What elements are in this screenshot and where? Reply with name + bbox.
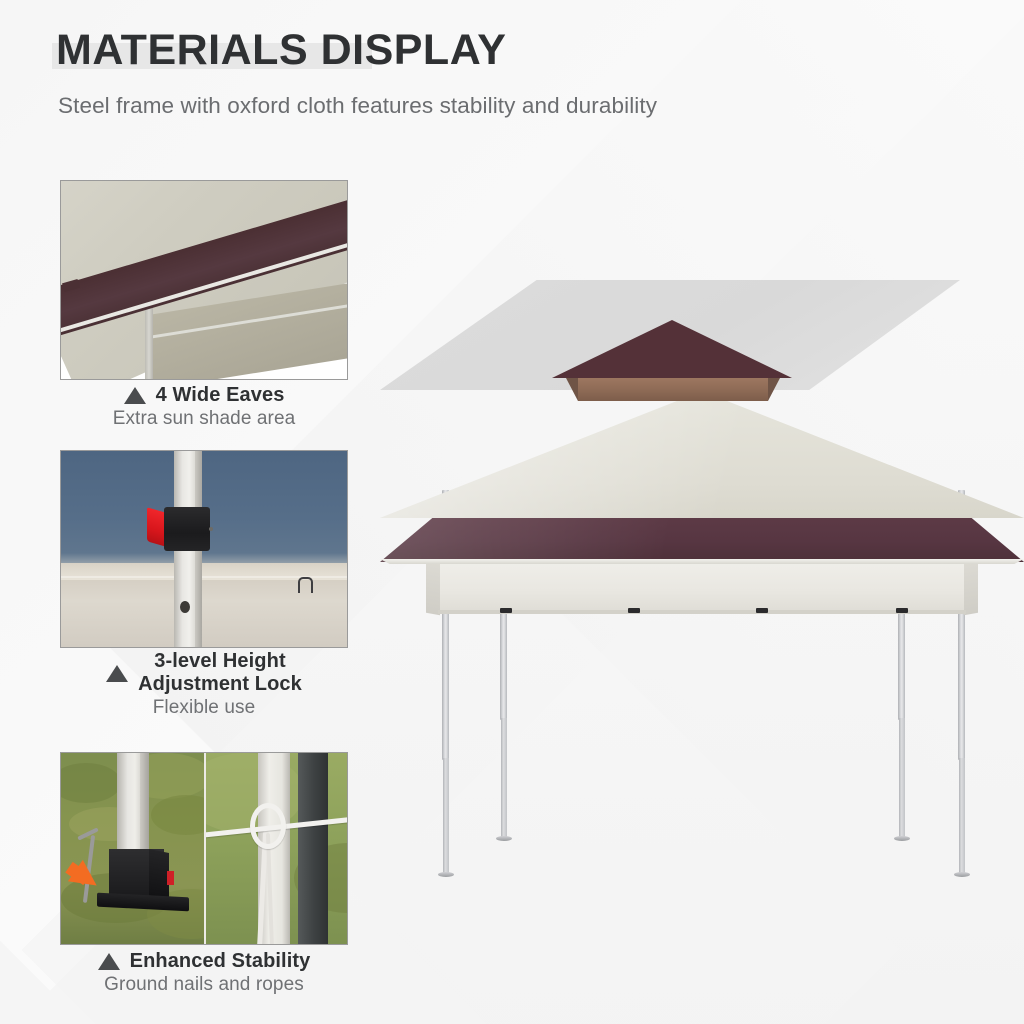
page-subtitle: Steel frame with oxford cloth features s… bbox=[58, 93, 876, 119]
feature-caption-eaves: 4 Wide Eaves Extra sun shade area bbox=[60, 384, 348, 430]
feature-heading-eaves: 4 Wide Eaves bbox=[156, 384, 285, 407]
ground-nail-photo-half bbox=[61, 753, 204, 944]
feature-subtext-stability: Ground nails and ropes bbox=[60, 974, 348, 996]
rope-tie-photo-half bbox=[204, 753, 347, 944]
canopy-vent-cap bbox=[552, 320, 792, 378]
triangle-bullet-icon bbox=[98, 953, 120, 970]
feature-caption-stability: Enhanced Stability Ground nails and rope… bbox=[60, 950, 348, 996]
product-illustration-gazebo bbox=[380, 280, 1024, 880]
pole-height-lock-illustration bbox=[61, 451, 347, 647]
pole-hole bbox=[180, 601, 190, 613]
feature-subtext-height-lock: Flexible use bbox=[60, 697, 348, 719]
triangle-bullet-icon bbox=[106, 665, 128, 682]
triangle-bullet-icon bbox=[124, 387, 146, 404]
header: MATERIALS DISPLAY Steel frame with oxfor… bbox=[56, 28, 876, 119]
feature-image-stability bbox=[60, 752, 348, 945]
ground-nail-rope-illustration bbox=[61, 753, 347, 944]
canopy-vent-band bbox=[578, 378, 768, 401]
feature-caption-height-lock: 3-level Height Adjustment Lock Flexible … bbox=[60, 650, 348, 719]
canopy-valance bbox=[438, 562, 966, 614]
page-title-wrapper: MATERIALS DISPLAY bbox=[56, 28, 507, 73]
feature-subtext-eaves: Extra sun shade area bbox=[60, 408, 348, 430]
black-lock-housing bbox=[164, 507, 210, 551]
feature-heading-height-lock-line1: 3-level Height bbox=[138, 650, 302, 673]
materials-display-page: MATERIALS DISPLAY Steel frame with oxfor… bbox=[0, 0, 1024, 1024]
feature-image-eaves bbox=[60, 180, 348, 380]
feature-heading-height-lock-line2: Adjustment Lock bbox=[138, 673, 302, 696]
canopy-eave-illustration bbox=[61, 181, 347, 379]
feature-heading-stability: Enhanced Stability bbox=[130, 950, 311, 973]
page-title: MATERIALS DISPLAY bbox=[56, 28, 507, 73]
feature-image-height-lock bbox=[60, 450, 348, 648]
